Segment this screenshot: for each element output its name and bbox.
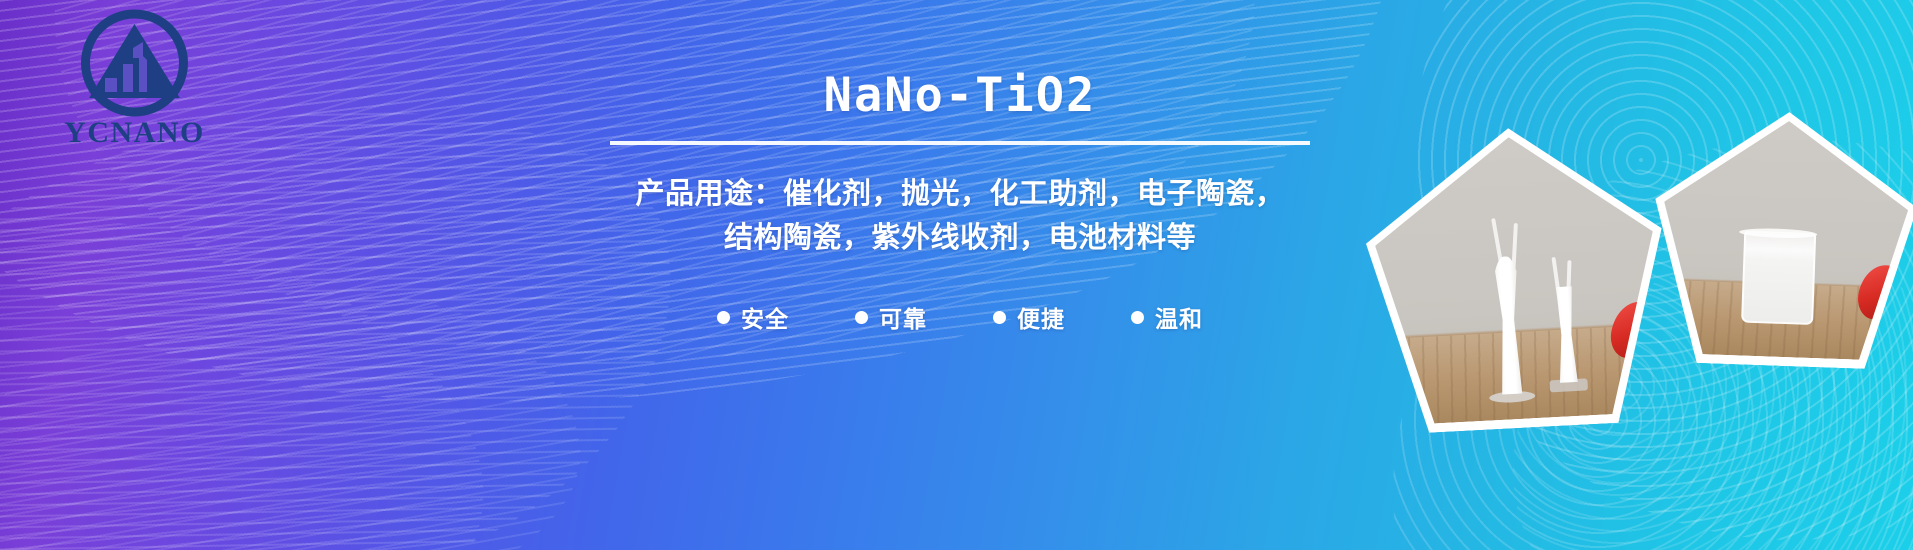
bullet-dot-icon <box>855 311 868 324</box>
bullet-dot-icon <box>717 311 730 324</box>
beaker-with-liquid <box>1741 231 1816 325</box>
bullet-dot-icon <box>1131 311 1144 324</box>
title-divider <box>610 141 1310 145</box>
feature-label: 便捷 <box>1017 300 1065 334</box>
hero-copy: NaNo-TiO2 产品用途：催化剂，抛光，化工助剂，电子陶瓷， 结构陶瓷，紫外… <box>430 0 1490 550</box>
feature-label: 温和 <box>1155 300 1203 334</box>
page-title: NaNo-TiO2 <box>430 72 1490 119</box>
red-petal <box>1608 298 1661 362</box>
product-photo-beaker <box>1650 108 1913 371</box>
product-hero-banner: YCNANO NaNo-TiO2 产品用途：催化剂，抛光，化工助剂，电子陶瓷， … <box>0 0 1913 550</box>
feature-item-2: 可靠 <box>855 300 927 334</box>
hero-subtitle: 产品用途：催化剂，抛光，化工助剂，电子陶瓷， 结构陶瓷，紫外线收剂，电池材料等 <box>430 173 1490 260</box>
brand-name: YCNANO <box>47 116 222 150</box>
subtitle-line-2: 结构陶瓷，紫外线收剂，电池材料等 <box>430 217 1490 261</box>
feature-item-1: 安全 <box>717 300 789 334</box>
feature-label: 可靠 <box>879 300 927 334</box>
feature-item-3: 便捷 <box>993 300 1065 334</box>
product-photo-beaker-image <box>1659 117 1911 361</box>
bullet-dot-icon <box>993 311 1006 324</box>
brand-logo[interactable]: YCNANO <box>47 8 222 158</box>
feature-label: 安全 <box>741 300 789 334</box>
feature-item-4: 温和 <box>1131 300 1203 334</box>
subtitle-line-1: 产品用途：催化剂，抛光，化工助剂，电子陶瓷， <box>430 173 1490 217</box>
feature-list: 安全 可靠 便捷 温和 <box>430 300 1490 334</box>
mountain-triangle-in-circle-icon <box>47 8 222 123</box>
